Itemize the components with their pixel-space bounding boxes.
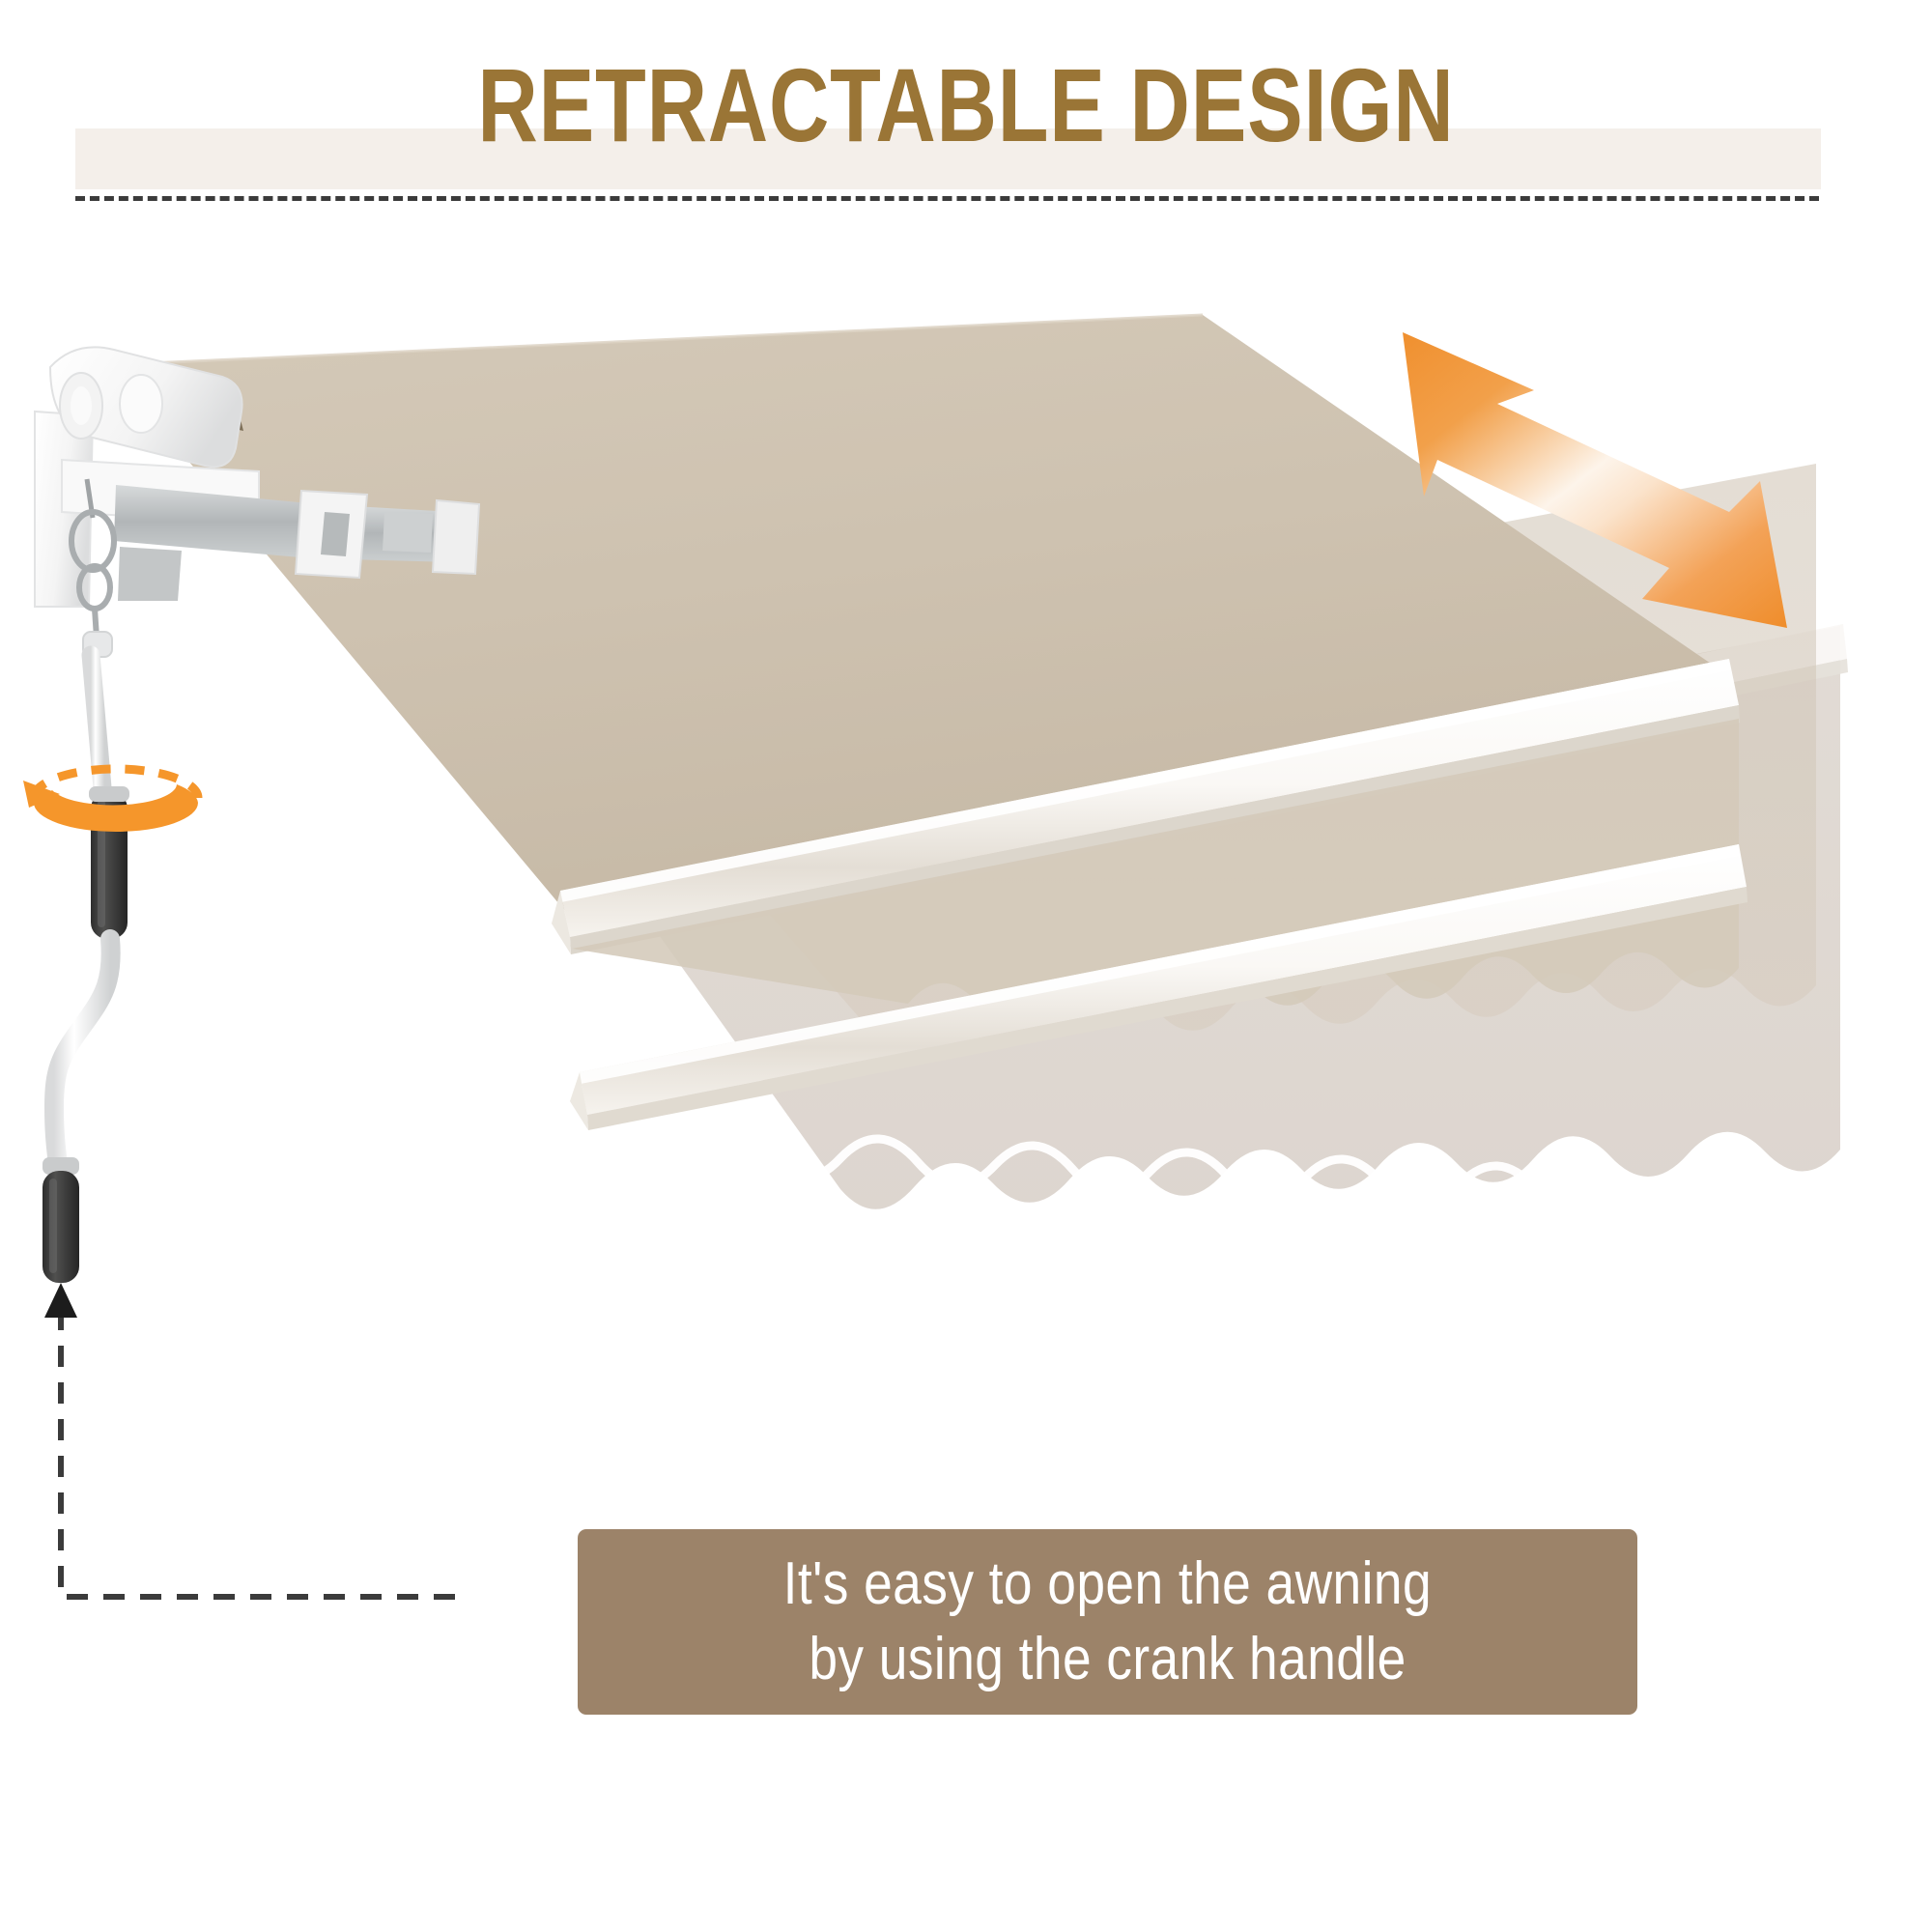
caption-line-2: by using the crank handle	[809, 1622, 1406, 1697]
header: RETRACTABLE DESIGN	[0, 0, 1932, 222]
crank-handle[interactable]	[43, 632, 129, 1283]
caption-box: It's easy to open the awning by using th…	[578, 1529, 1637, 1715]
caption-line-1: It's easy to open the awning	[783, 1547, 1432, 1622]
page-title: RETRACTABLE DESIGN	[193, 52, 1739, 158]
crank-handle-callout-leader	[0, 1236, 676, 1642]
header-dashed-divider	[75, 196, 1819, 201]
